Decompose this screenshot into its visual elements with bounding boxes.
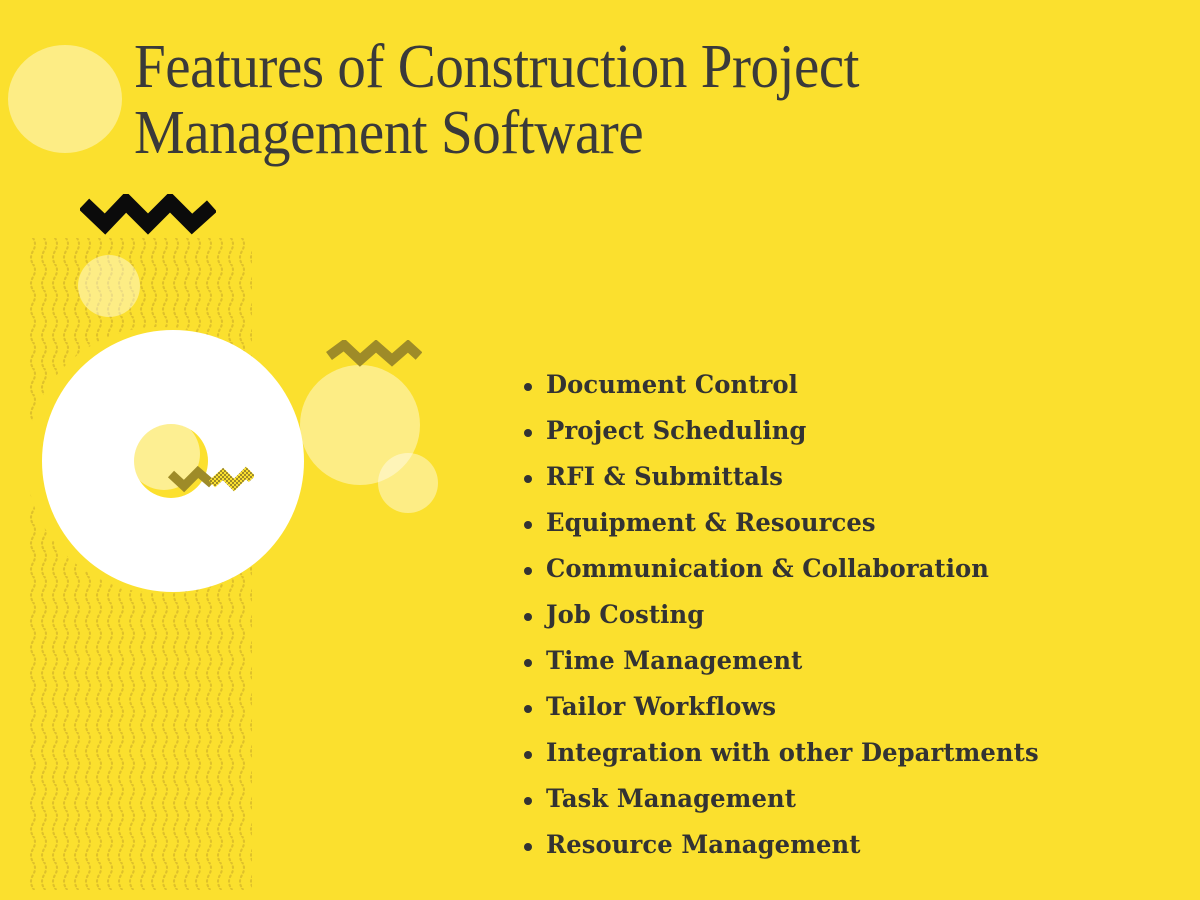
feature-label: Communication & Collaboration bbox=[546, 546, 989, 592]
pale-circle-small bbox=[78, 255, 140, 317]
list-item: Resource Management bbox=[518, 822, 1178, 868]
list-item: Document Control bbox=[518, 362, 1178, 408]
pale-circle-top bbox=[8, 45, 122, 153]
pale-circle-inner-overlay bbox=[128, 418, 200, 490]
list-item: Time Management bbox=[518, 638, 1178, 684]
feature-label: Time Management bbox=[546, 638, 802, 684]
white-circle-shape bbox=[42, 330, 304, 592]
slide-canvas: Features of Construction Project Managem… bbox=[0, 0, 1200, 900]
list-item: Project Scheduling bbox=[518, 408, 1178, 454]
pale-circle-mid bbox=[300, 365, 420, 485]
feature-label: Project Scheduling bbox=[546, 408, 806, 454]
list-item: Task Management bbox=[518, 776, 1178, 822]
zigzag-olive-icon bbox=[326, 340, 422, 376]
list-item: Job Costing bbox=[518, 592, 1178, 638]
list-item: Equipment & Resources bbox=[518, 500, 1178, 546]
feature-label: Task Management bbox=[546, 776, 796, 822]
list-item: Tailor Workflows bbox=[518, 684, 1178, 730]
feature-label: Resource Management bbox=[546, 822, 861, 868]
zigzag-small-icon bbox=[168, 466, 254, 496]
feature-label: Integration with other Departments bbox=[546, 730, 1039, 776]
list-item: Communication & Collaboration bbox=[518, 546, 1178, 592]
list-item: RFI & Submittals bbox=[518, 454, 1178, 500]
wavy-texture-pattern bbox=[28, 238, 252, 890]
page-title: Features of Construction Project Managem… bbox=[134, 34, 1054, 166]
feature-list: Document ControlProject SchedulingRFI & … bbox=[518, 362, 1178, 868]
feature-label: Tailor Workflows bbox=[546, 684, 776, 730]
feature-label: RFI & Submittals bbox=[546, 454, 783, 500]
feature-label: Job Costing bbox=[546, 592, 704, 638]
list-item: Integration with other Departments bbox=[518, 730, 1178, 776]
inner-yellow-circle-shape bbox=[134, 424, 208, 498]
zigzag-black-icon bbox=[80, 194, 216, 236]
pale-circle-lower bbox=[378, 453, 438, 513]
feature-label: Document Control bbox=[546, 362, 798, 408]
feature-label: Equipment & Resources bbox=[546, 500, 876, 546]
